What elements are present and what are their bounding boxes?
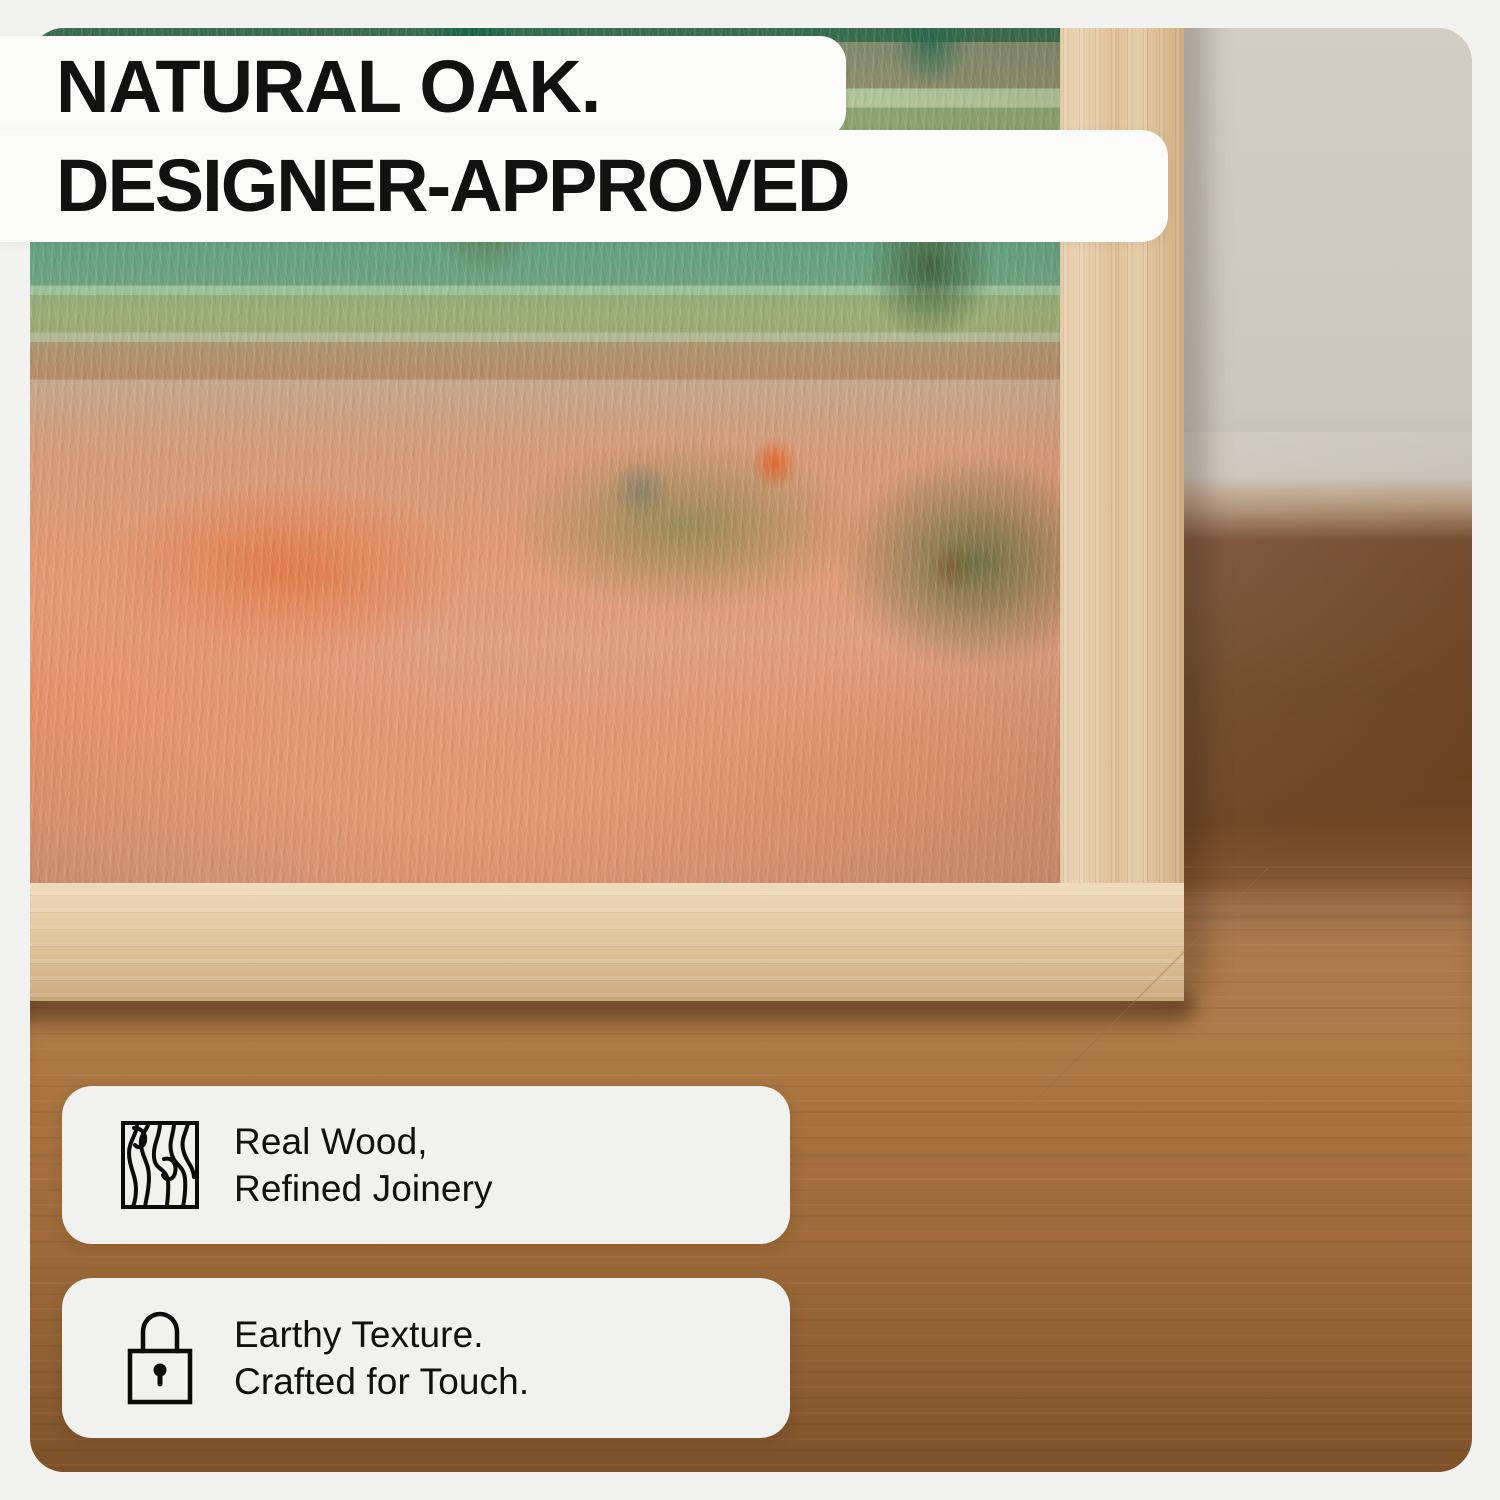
feature-badge-earthy-texture[interactable]: Earthy Texture. Crafted for Touch. [62,1278,790,1438]
wood-grain-icon [114,1116,206,1214]
page-title-line1: NATURAL OAK. [56,50,600,124]
frame-bottom-rail [30,883,1184,1001]
headline-plate-line2: DESIGNER-APPROVED [0,130,1168,242]
frame-mitre-joint [1038,868,1268,1098]
lock-icon [114,1309,206,1407]
feature-badge-label: Real Wood, Refined Joinery [234,1118,493,1213]
feature-badge-real-wood[interactable]: Real Wood, Refined Joinery [62,1086,790,1244]
page-title-line2: DESIGNER-APPROVED [56,149,848,223]
feature-badge-label: Earthy Texture. Crafted for Touch. [234,1311,529,1406]
product-photo [30,28,1472,1472]
headline-plate-line1: NATURAL OAK. [0,36,846,138]
